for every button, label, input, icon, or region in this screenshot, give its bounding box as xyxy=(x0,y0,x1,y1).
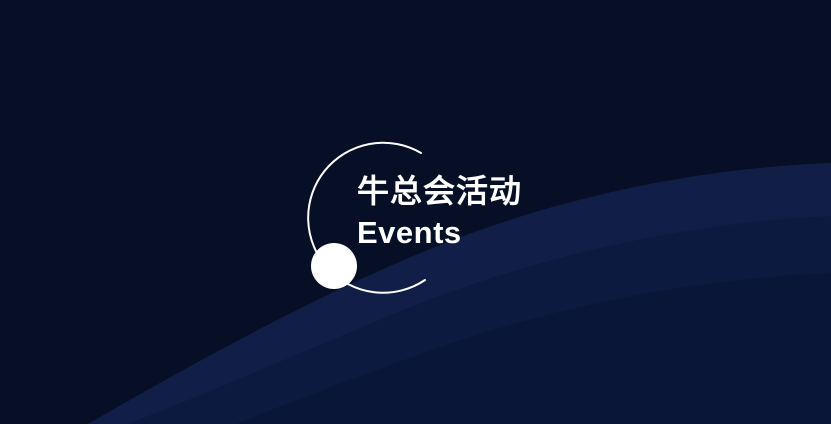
banner-title-chinese: 牛总会活动 xyxy=(357,170,757,212)
events-hero-banner: 牛总会活动 Events xyxy=(0,0,831,424)
banner-title-english: Events xyxy=(357,212,757,254)
banner-text-block: 牛总会活动 Events xyxy=(357,170,757,254)
